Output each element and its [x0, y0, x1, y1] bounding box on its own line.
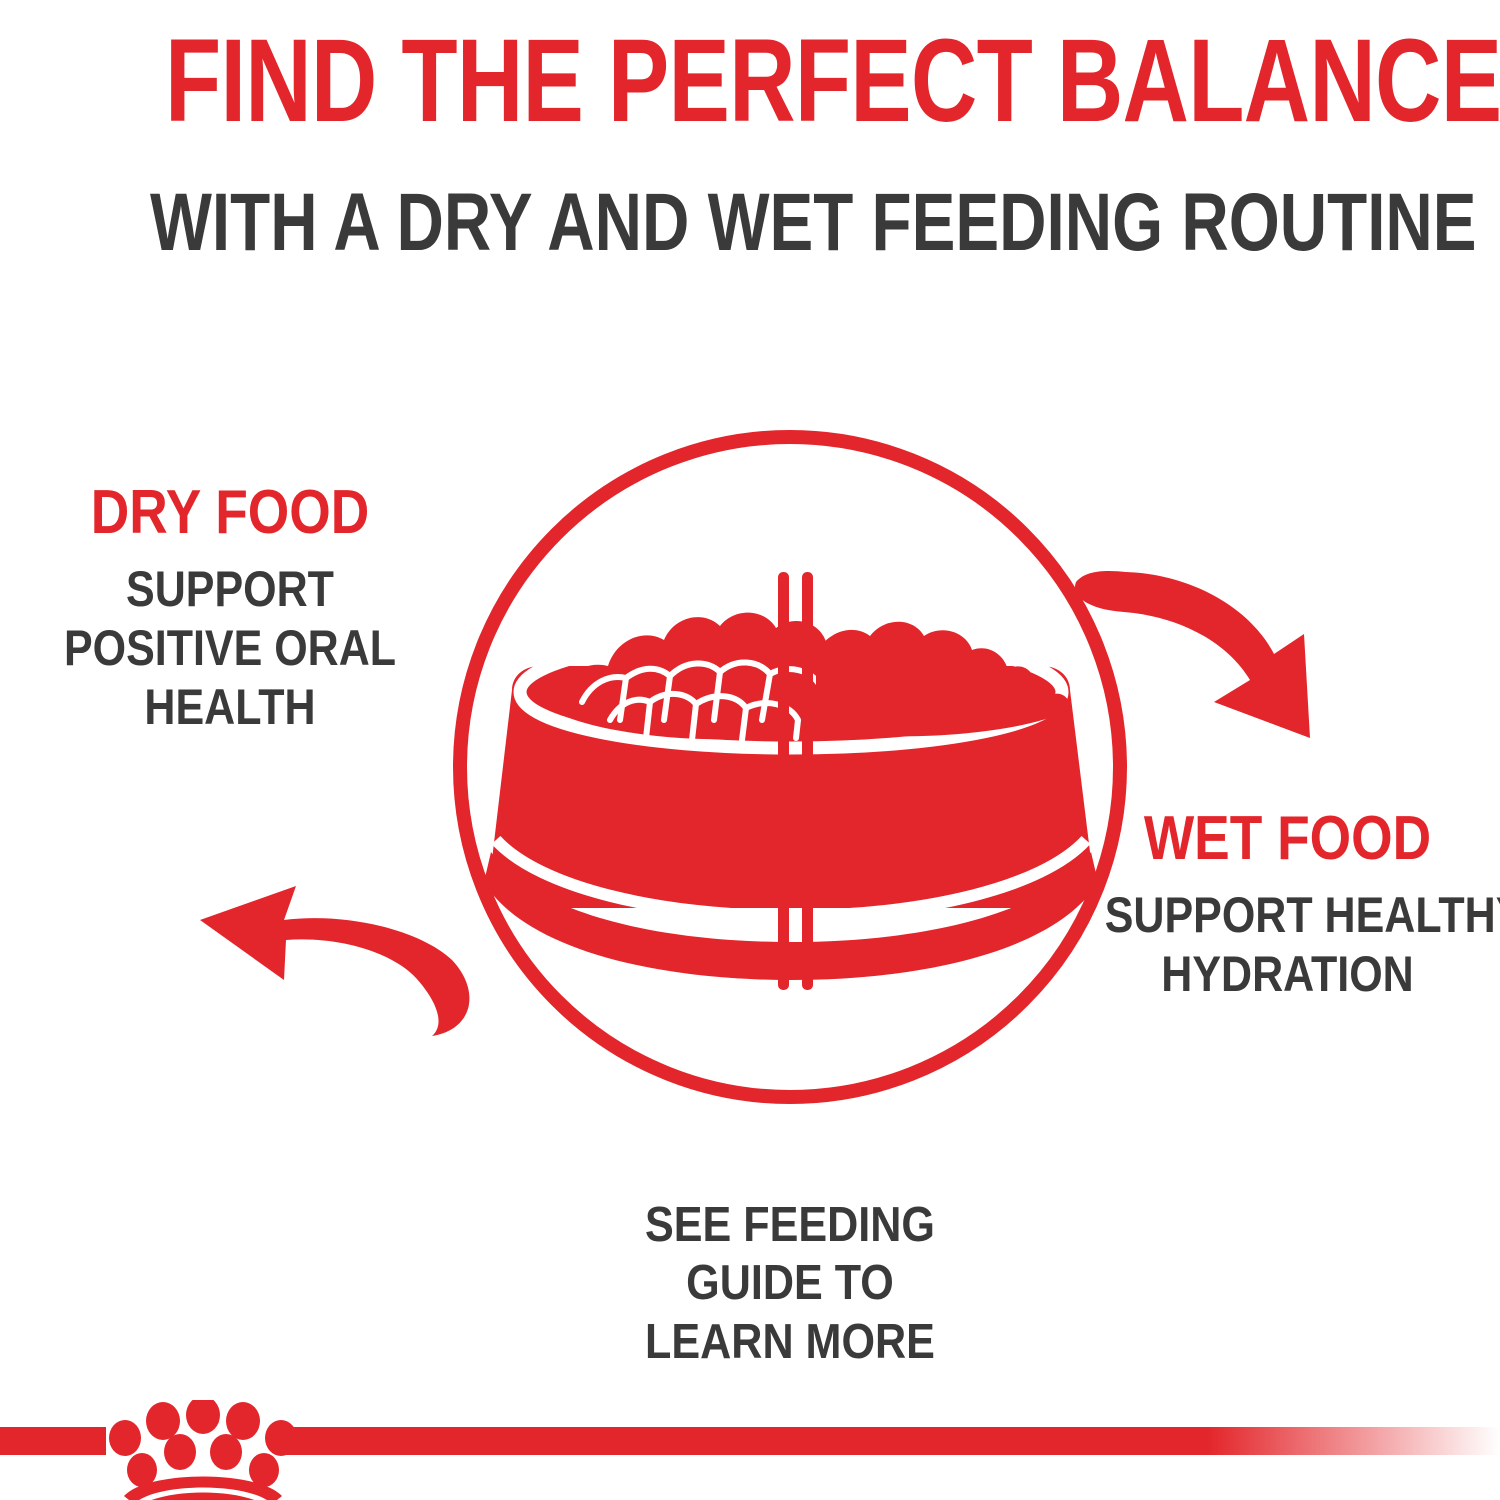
pet-food-bowl	[484, 613, 1098, 980]
footer-bar-right	[282, 1427, 1500, 1455]
cta-line-3: LEARN MORE	[570, 1313, 1010, 1371]
bowl-illustration	[180, 420, 1420, 1120]
wet-food-mound	[816, 622, 1070, 736]
royal-canin-crown-logo	[109, 1400, 297, 1500]
cta-line-1: SEE FEEDING	[570, 1196, 1010, 1254]
footer	[0, 1400, 1500, 1500]
cta-line-2: GUIDE TO	[570, 1254, 1010, 1312]
footer-bar-left	[0, 1427, 106, 1455]
cta-see-feeding-guide[interactable]: SEE FEEDING GUIDE TO LEARN MORE	[570, 1196, 1010, 1371]
curved-arrow-to-dry-food	[200, 886, 469, 1036]
infographic-page: FIND THE PERFECT BALANCE WITH A DRY AND …	[0, 0, 1500, 1500]
page-title: FIND THE PERFECT BALANCE	[165, 22, 1335, 140]
page-subtitle: WITH A DRY AND WET FEEDING ROUTINE	[150, 182, 1350, 264]
